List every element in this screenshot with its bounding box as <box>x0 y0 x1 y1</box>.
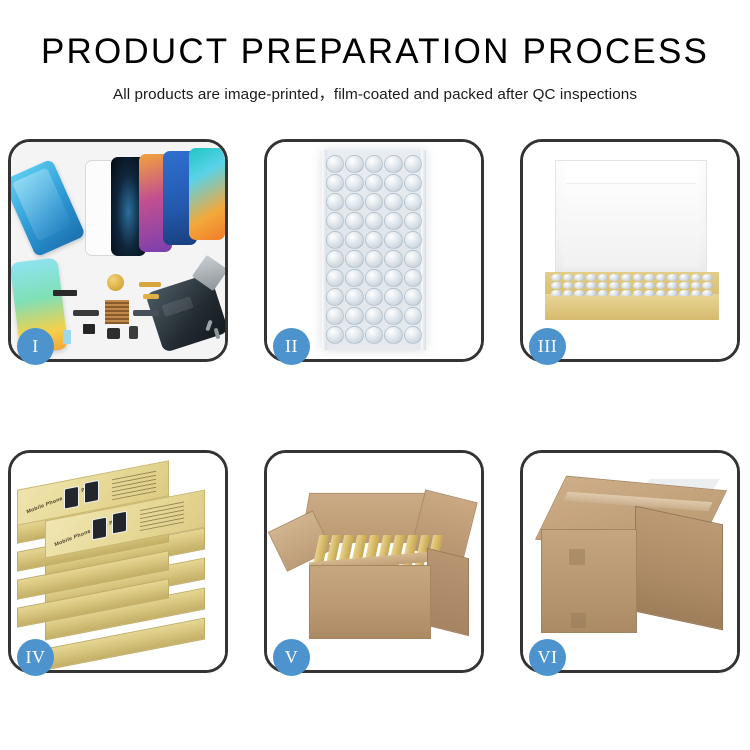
bubble <box>345 155 363 173</box>
header: PRODUCT PREPARATION PROCESS All products… <box>0 0 750 104</box>
bubble <box>644 282 655 289</box>
lid-phone-image-1a <box>64 486 79 510</box>
bubble <box>384 307 402 325</box>
bubble <box>691 282 702 289</box>
product-preparation-infographic: PRODUCT PREPARATION PROCESS All products… <box>0 0 750 750</box>
step-card-5: V <box>264 450 484 673</box>
bubble <box>326 288 344 306</box>
bubble <box>345 193 363 211</box>
bubble <box>633 274 644 281</box>
carton-side-panel <box>427 548 469 636</box>
teal-orange-screen <box>189 148 225 240</box>
kraft-tray-front <box>545 294 719 320</box>
chip-part-a <box>83 324 95 334</box>
chip-part-c <box>129 326 138 339</box>
bubble <box>365 250 383 268</box>
bubble <box>609 274 620 281</box>
bubble <box>621 274 632 281</box>
lid-spec-lines-1 <box>112 470 156 501</box>
bubble <box>702 290 713 296</box>
lid-phone-image-2a <box>92 516 107 540</box>
bubble <box>702 282 713 289</box>
phone-parts-scene <box>11 142 225 359</box>
coil-part <box>107 274 124 291</box>
lid-phone-image-1b <box>84 480 99 504</box>
bubble <box>679 290 690 296</box>
bubble <box>404 269 422 287</box>
bubble <box>644 274 655 281</box>
bubble <box>326 212 344 230</box>
bubble <box>404 193 422 211</box>
bubble <box>326 231 344 249</box>
bubble <box>326 326 344 344</box>
bubble <box>326 269 344 287</box>
speaker-bar-part <box>53 290 77 296</box>
step-image-3 <box>523 142 737 359</box>
bubble <box>384 288 402 306</box>
open-carton-scene <box>267 453 481 670</box>
bubble <box>633 290 644 296</box>
bubble <box>679 274 690 281</box>
flex-cable-part-d <box>133 310 159 316</box>
bubble <box>656 274 667 281</box>
bubble <box>404 212 422 230</box>
step-badge-3: III <box>529 328 566 365</box>
bubble <box>563 282 574 289</box>
bubble <box>656 282 667 289</box>
bubble <box>691 274 702 281</box>
bubble <box>404 231 422 249</box>
step-image-5 <box>267 453 481 670</box>
bubble <box>563 290 574 296</box>
bubble <box>365 326 383 344</box>
bubble <box>656 290 667 296</box>
bubble <box>326 193 344 211</box>
bubble <box>404 326 422 344</box>
retail-box-stack-scene: Mobile Phone Spare Parts Mobile Phone Sp… <box>11 453 225 670</box>
bubble <box>345 174 363 192</box>
bubble <box>598 274 609 281</box>
flex-cable-part-c <box>73 310 99 316</box>
bubble <box>644 290 655 296</box>
step-image-6 <box>523 453 737 670</box>
bubble <box>384 269 402 287</box>
bubble <box>384 250 402 268</box>
bubble <box>326 250 344 268</box>
bubble <box>633 282 644 289</box>
bubble-wrap-pouch <box>322 150 426 350</box>
step-image-2 <box>267 142 481 359</box>
bubble <box>551 274 562 281</box>
bubble <box>621 290 632 296</box>
bubble <box>365 174 383 192</box>
bubble <box>691 290 702 296</box>
carton-handle-notch-top <box>569 549 585 565</box>
step-card-4: Mobile Phone Spare Parts Mobile Phone Sp… <box>8 450 228 673</box>
carton-handle-notch-bottom <box>571 613 586 628</box>
bubble <box>404 250 422 268</box>
bubble <box>345 231 363 249</box>
bubble <box>667 274 678 281</box>
bubble <box>384 193 402 211</box>
bubble <box>586 282 597 289</box>
bubble <box>551 282 562 289</box>
bubble <box>365 212 383 230</box>
bubble <box>404 155 422 173</box>
bubble <box>384 212 402 230</box>
step-badge-5: V <box>273 639 310 676</box>
sealed-carton-side <box>635 506 723 631</box>
chip-part-b <box>107 328 120 339</box>
step-image-1 <box>11 142 225 359</box>
bubble <box>345 212 363 230</box>
bubble <box>365 288 383 306</box>
bubble <box>384 231 402 249</box>
bubble <box>384 155 402 173</box>
bubble <box>598 282 609 289</box>
bubble <box>345 250 363 268</box>
flex-cable-part-a <box>139 282 161 287</box>
flex-cable-part-b <box>143 294 159 299</box>
bubble <box>574 290 585 296</box>
step-badge-6: VI <box>529 639 566 676</box>
bubble <box>326 174 344 192</box>
bubble <box>609 290 620 296</box>
bubble <box>598 290 609 296</box>
sealed-carton-front <box>541 529 637 633</box>
bubble <box>326 155 344 173</box>
step-card-6: VI <box>520 450 740 673</box>
step-card-1: I <box>8 139 228 362</box>
foam-insert <box>563 194 699 268</box>
bubble <box>326 307 344 325</box>
step-badge-4: IV <box>17 639 54 676</box>
bubble <box>365 155 383 173</box>
bubble <box>586 274 597 281</box>
bubble <box>574 282 585 289</box>
lid-phone-image-2b <box>112 511 127 535</box>
bubble <box>702 274 713 281</box>
bubble <box>345 307 363 325</box>
carton-front-panel <box>309 565 431 639</box>
sealed-carton-scene <box>523 453 737 670</box>
step-image-4: Mobile Phone Spare Parts Mobile Phone Sp… <box>11 453 225 670</box>
bubble <box>345 269 363 287</box>
bubble <box>667 290 678 296</box>
bubble <box>586 290 597 296</box>
bubble <box>621 282 632 289</box>
step-badge-1: I <box>17 328 54 365</box>
bubble <box>574 274 585 281</box>
bubble <box>345 326 363 344</box>
bubble <box>609 282 620 289</box>
page-subtitle: All products are image-printed，film-coat… <box>0 82 750 104</box>
bubble <box>679 282 690 289</box>
step-card-3: III <box>520 139 740 362</box>
blue-back-panel <box>11 159 86 258</box>
step-card-2: II <box>264 139 484 362</box>
process-steps-grid: I II <box>8 139 742 673</box>
bubble <box>551 290 562 296</box>
bubble <box>404 288 422 306</box>
page-title: PRODUCT PREPARATION PROCESS <box>0 34 750 71</box>
bubble <box>667 282 678 289</box>
inner-box-scene <box>523 142 737 359</box>
bubble <box>563 274 574 281</box>
bubble <box>365 307 383 325</box>
bubble <box>365 231 383 249</box>
bubble <box>404 307 422 325</box>
bubble-sheet <box>326 155 422 345</box>
bubble <box>404 174 422 192</box>
grid-pad-part <box>105 300 129 324</box>
bubble-wrapped-contents <box>551 274 713 296</box>
lid-spec-lines-2 <box>140 501 184 532</box>
bubble <box>345 288 363 306</box>
bubble-wrap-scene <box>267 142 481 359</box>
bubble <box>365 193 383 211</box>
bubble <box>384 326 402 344</box>
bubble <box>365 269 383 287</box>
step-badge-2: II <box>273 328 310 365</box>
connector-part <box>63 330 71 344</box>
bubble <box>384 174 402 192</box>
